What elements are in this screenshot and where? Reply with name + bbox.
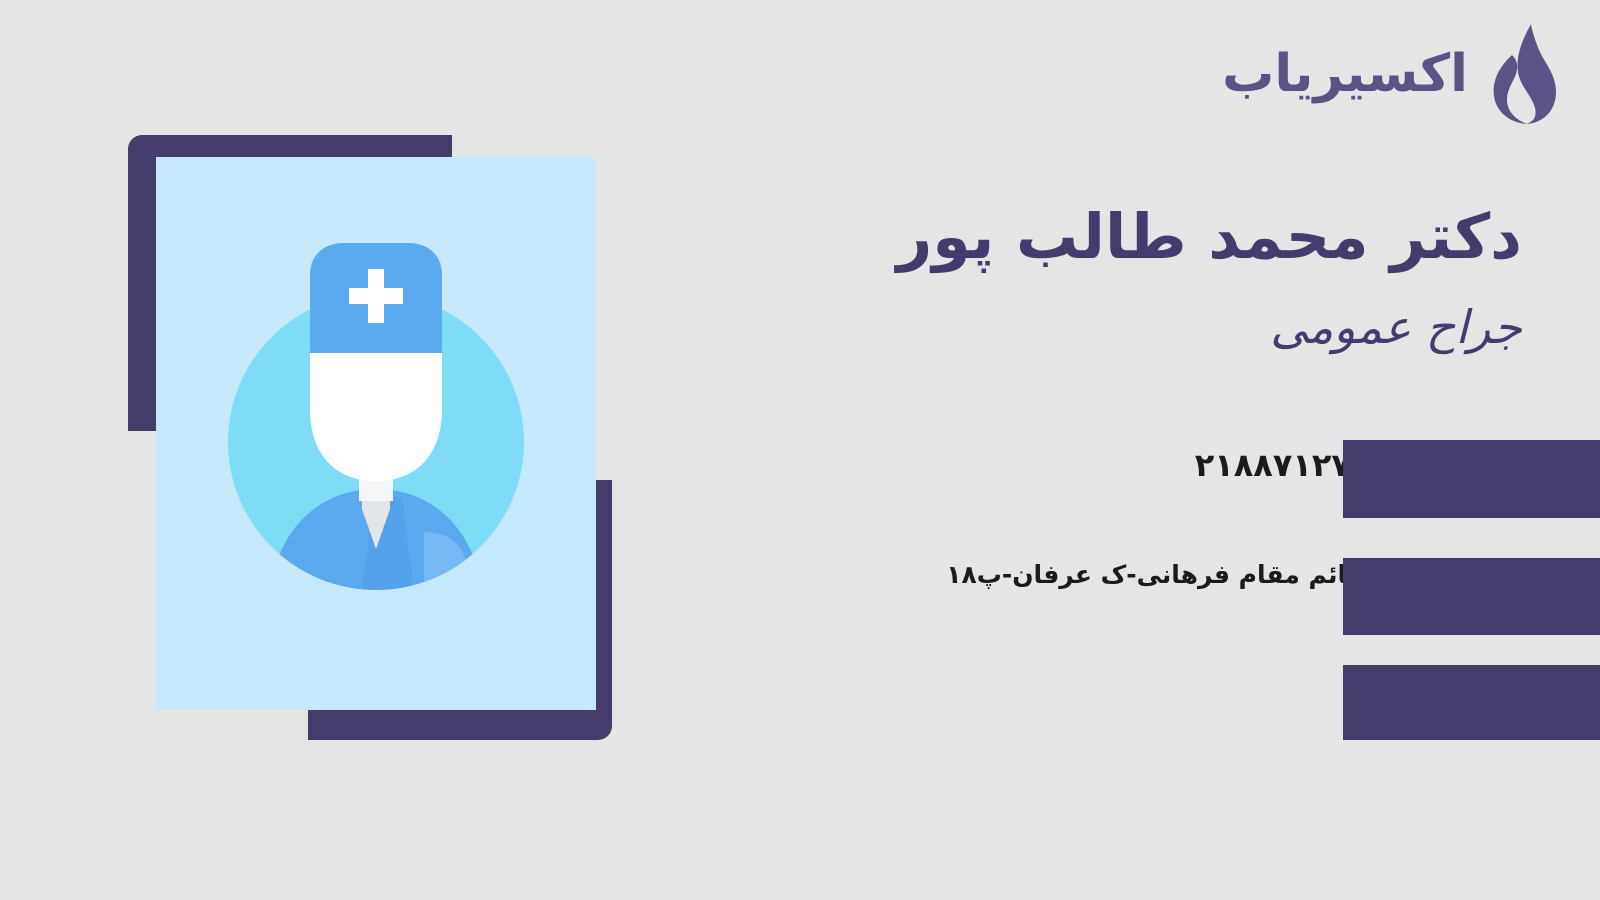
flame-icon: [1482, 22, 1560, 126]
brand-logo: اکسیریاب: [1222, 22, 1560, 126]
doctor-illustration: [120, 125, 640, 750]
doctor-info: دکتر محمد طالب پور جراح عمومی: [802, 200, 1522, 356]
doctor-address: خ قائم مقام فرهانی-ک عرفان-پ۱۸: [946, 560, 1390, 589]
doctor-name: دکتر محمد طالب پور: [802, 200, 1522, 274]
doctor-specialty: جراح عمومی: [802, 300, 1522, 355]
deco-bar-3: [1343, 665, 1600, 740]
deco-bar-2: [1343, 558, 1600, 635]
business-card: اکسیریاب: [0, 0, 1600, 900]
deco-bar-1: [1343, 440, 1600, 518]
brand-wordmark: اکسیریاب: [1222, 48, 1468, 100]
doctor-photo-card: [156, 157, 596, 710]
doctor-avatar: [156, 157, 596, 710]
